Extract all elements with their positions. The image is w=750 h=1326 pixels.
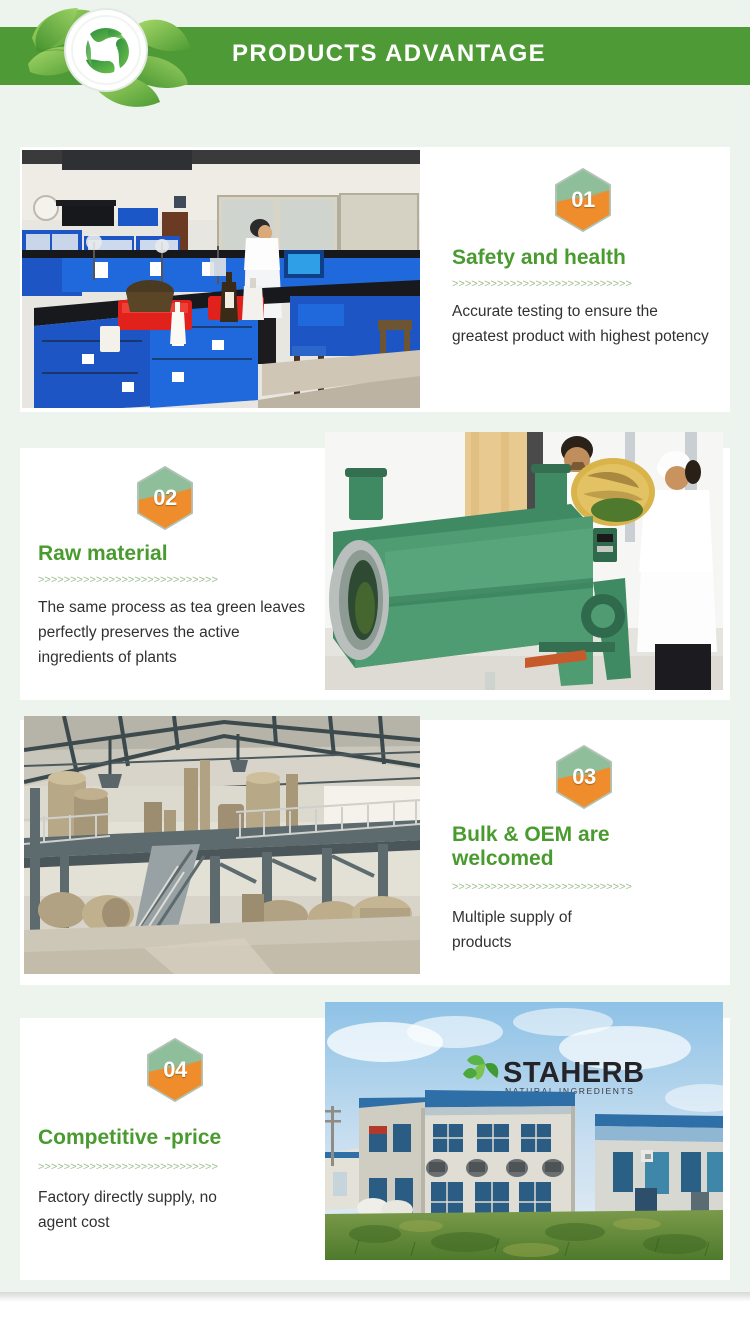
advantage-block-02: 02 Raw material >>>>>>>>>>>>>>>>>>>>>>>>… — [0, 420, 750, 710]
block-heading: Competitive -price — [38, 1126, 328, 1150]
tea-processing-machine-photo — [325, 432, 723, 690]
badge-number-label: 04 — [146, 1038, 204, 1102]
chevron-divider: >>>>>>>>>>>>>>>>>>>>>>>>>>>> — [452, 882, 716, 893]
badge-number-03: 03 — [555, 745, 613, 809]
block-heading: Bulk & OEM are welcomed — [452, 823, 667, 870]
advantage-block-04: STAHERB NATURAL INGREDIENTS — [0, 1000, 750, 1292]
block-text-column: 02 Raw material >>>>>>>>>>>>>>>>>>>>>>>>… — [38, 466, 318, 670]
chevron-divider: >>>>>>>>>>>>>>>>>>>>>>>>>>>> — [38, 575, 318, 586]
laboratory-testing-photo — [22, 150, 420, 408]
block-heading: Raw material — [38, 542, 318, 566]
block-body-text: Multiple supply of products — [452, 905, 632, 955]
badge-number-label: 03 — [555, 745, 613, 809]
page-title: PRODUCTS ADVANTAGE — [232, 40, 546, 68]
extraction-workshop-photo — [24, 716, 420, 974]
block-body-text: Factory directly supply, no agent cost — [38, 1185, 238, 1235]
block-text-column: 03 Bulk & OEM are welcomed >>>>>>>>>>>>>… — [452, 745, 716, 955]
chevron-divider: >>>>>>>>>>>>>>>>>>>>>>>>>>>> — [38, 1162, 328, 1173]
badge-number-label: 01 — [554, 168, 612, 232]
advantage-block-01: 01 Safety and health >>>>>>>>>>>>>>>>>>>… — [0, 120, 750, 420]
badge-number-01: 01 — [554, 168, 612, 232]
badge-number-02: 02 — [136, 466, 194, 530]
block-text-column: 01 Safety and health >>>>>>>>>>>>>>>>>>>… — [452, 168, 714, 349]
factory-sign-brand: STAHERB — [503, 1057, 645, 1089]
badge-number-04: 04 — [146, 1038, 204, 1102]
block-heading: Safety and health — [452, 246, 714, 270]
chevron-divider: >>>>>>>>>>>>>>>>>>>>>>>>>>>> — [452, 279, 714, 290]
page-header: PRODUCTS ADVANTAGE — [0, 0, 750, 112]
advantage-block-03: 03 Bulk & OEM are welcomed >>>>>>>>>>>>>… — [0, 700, 750, 1000]
badge-number-label: 02 — [136, 466, 194, 530]
factory-building-photo: STAHERB NATURAL INGREDIENTS — [325, 1002, 723, 1260]
products-advantage-page: PRODUCTS ADVANTAGE — [0, 0, 750, 1326]
block-text-column: 04 Competitive -price >>>>>>>>>>>>>>>>>>… — [38, 1038, 328, 1235]
page-footer-shadow — [0, 1292, 750, 1326]
block-body-text: The same process as tea green leaves per… — [38, 595, 318, 670]
block-body-text: Accurate testing to ensure the greatest … — [452, 299, 714, 349]
staherb-leaf-swirl-logo-icon — [18, 0, 228, 112]
